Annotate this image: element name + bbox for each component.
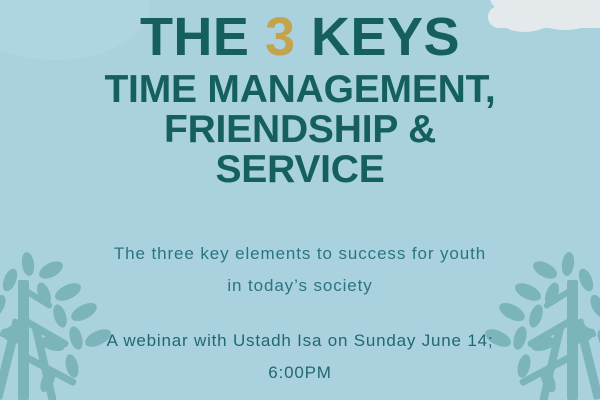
description-text: The three key elements to success for yo…: [0, 190, 600, 302]
event-details-time: 6:00PM: [0, 357, 600, 389]
subheading-line-3: SERVICE: [0, 150, 600, 190]
event-details-line-1: A webinar with Ustadh Isa on Sunday June…: [0, 325, 600, 357]
headline-accent-number: 3: [265, 7, 296, 67]
webinar-poster: THE 3 KEYS TIME MANAGEMENT, FRIENDSHIP &…: [0, 0, 600, 400]
page-title: THE 3 KEYS: [0, 0, 600, 66]
description-line-1: The three key elements to success for yo…: [0, 238, 600, 270]
description-line-2: in today’s society: [0, 270, 600, 302]
subheading-line-2: FRIENDSHIP &: [0, 110, 600, 150]
subheading-line-1: TIME MANAGEMENT,: [0, 70, 600, 110]
poster-content: THE 3 KEYS TIME MANAGEMENT, FRIENDSHIP &…: [0, 0, 600, 400]
headline-part-2: KEYS: [296, 7, 461, 67]
event-details-text: A webinar with Ustadh Isa on Sunday June…: [0, 302, 600, 389]
subheading: TIME MANAGEMENT, FRIENDSHIP & SERVICE: [0, 66, 600, 190]
headline-part-1: THE: [140, 7, 265, 67]
